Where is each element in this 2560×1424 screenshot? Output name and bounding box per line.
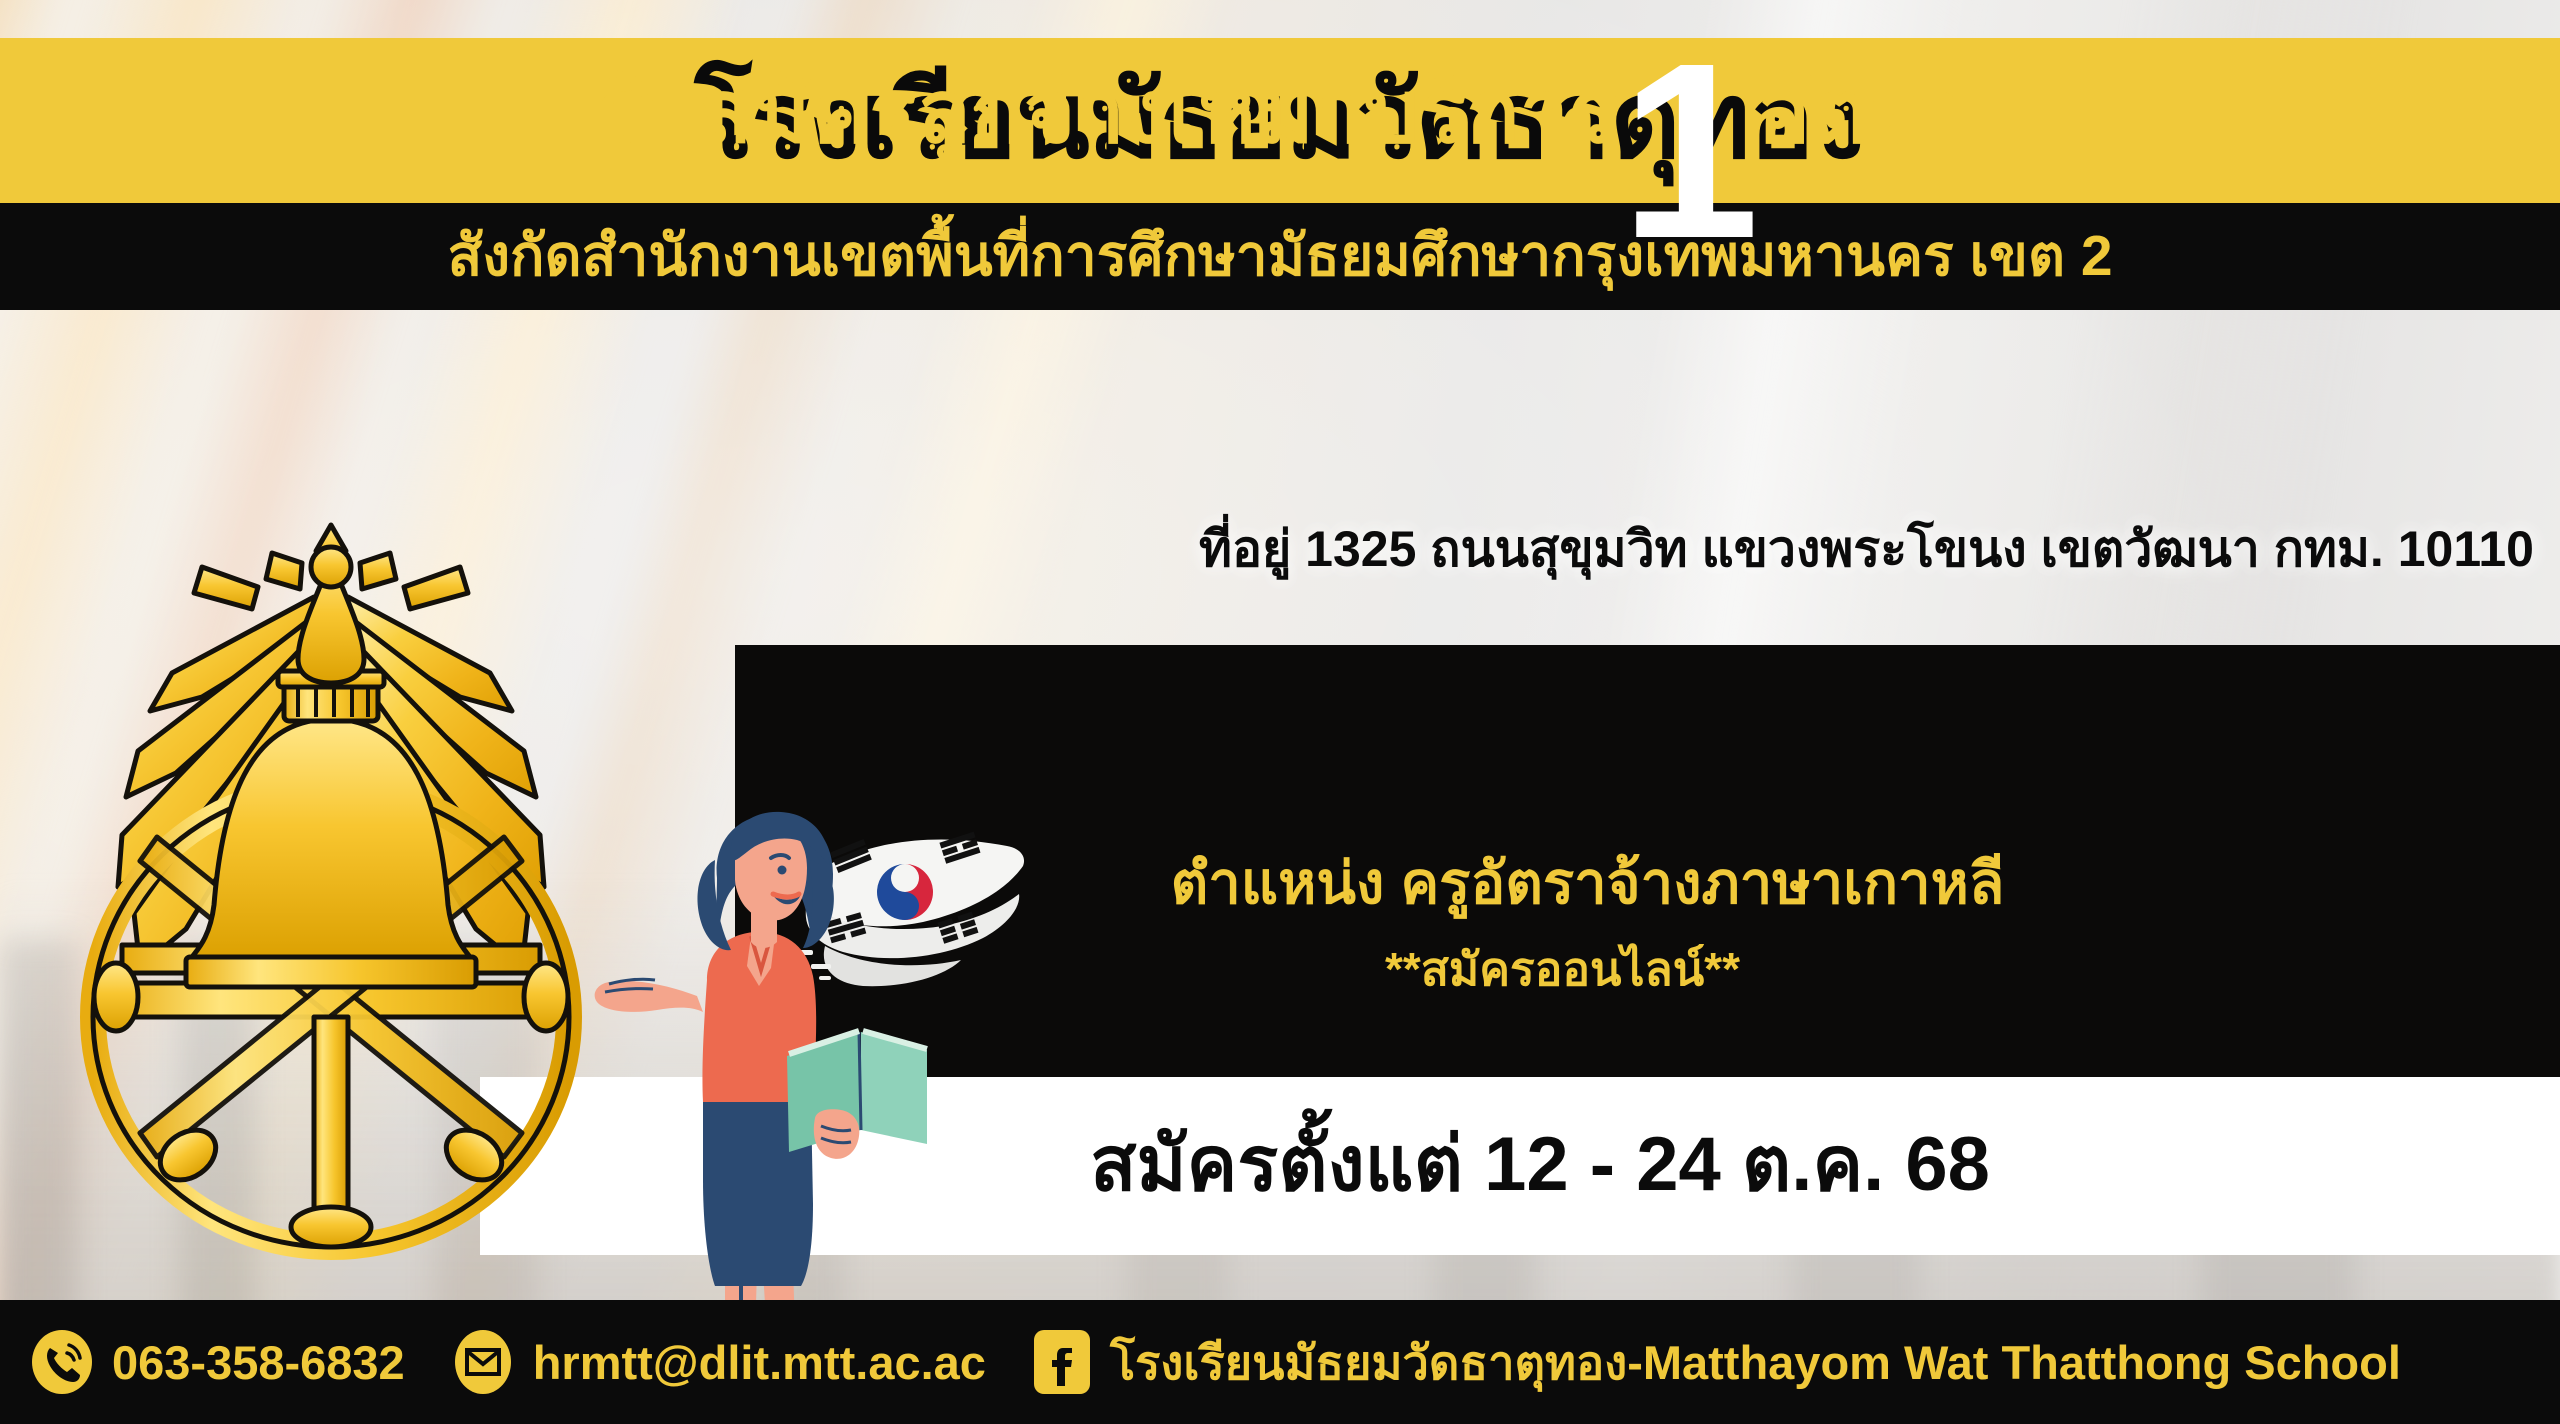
email-address: hrmtt@dlit.mtt.ac.ac [533, 1339, 986, 1386]
phone-contact[interactable]: 063-358-6832 [28, 1328, 405, 1396]
facebook-contact[interactable]: โรงเรียนมัธยมวัดธาตุทอง-Matthayom Wat Th… [1030, 1328, 2401, 1396]
affiliation-band: สังกัดสำนักงานเขตพื้นที่การศึกษามัธยมศึก… [0, 203, 2560, 310]
address-line: ที่อยู่ 1325 ถนนสุขุมวิท แขวงพระโขนง เขต… [1199, 524, 2534, 574]
contact-footer: 063-358-6832 hrmtt@dlit.mtt.ac.ac โรงเรี… [0, 1300, 2560, 1424]
facebook-page-name: โรงเรียนมัธยมวัดธาตุทอง-Matthayom Wat Th… [1110, 1339, 2401, 1386]
position-text: ตำแหน่ง ครูอัตราจ้างภาษาเกาหลี [1171, 851, 2005, 916]
phone-icon [28, 1328, 96, 1396]
email-contact[interactable]: hrmtt@dlit.mtt.ac.ac [449, 1328, 986, 1396]
recruitment-poster: โรงเรียนมัธยมวัดธาตุทอง สังกัดสำนักงานเข… [0, 0, 2560, 1424]
headline-left-text: รับสมัครลูกจ้างเหมาบริการ [596, 68, 1617, 156]
headline-right-text: อัตรา [1758, 68, 1965, 156]
vacancy-count: 1 [1621, 53, 1754, 248]
affiliation-text: สังกัดสำนักงานเขตพื้นที่การศึกษามัธยมศึก… [447, 228, 2112, 285]
apply-period-text: สมัครตั้งแต่ 12 - 24 ต.ค. 68 [1090, 1127, 1990, 1203]
facebook-icon [1030, 1328, 1094, 1396]
announcement-headline: รับสมัครลูกจ้างเหมาบริการ 1 อัตรา [0, 52, 2560, 172]
phone-number: 063-358-6832 [112, 1339, 405, 1386]
online-note-text: **สมัครออนไลน์** [1385, 943, 1740, 995]
envelope-icon [449, 1328, 517, 1396]
